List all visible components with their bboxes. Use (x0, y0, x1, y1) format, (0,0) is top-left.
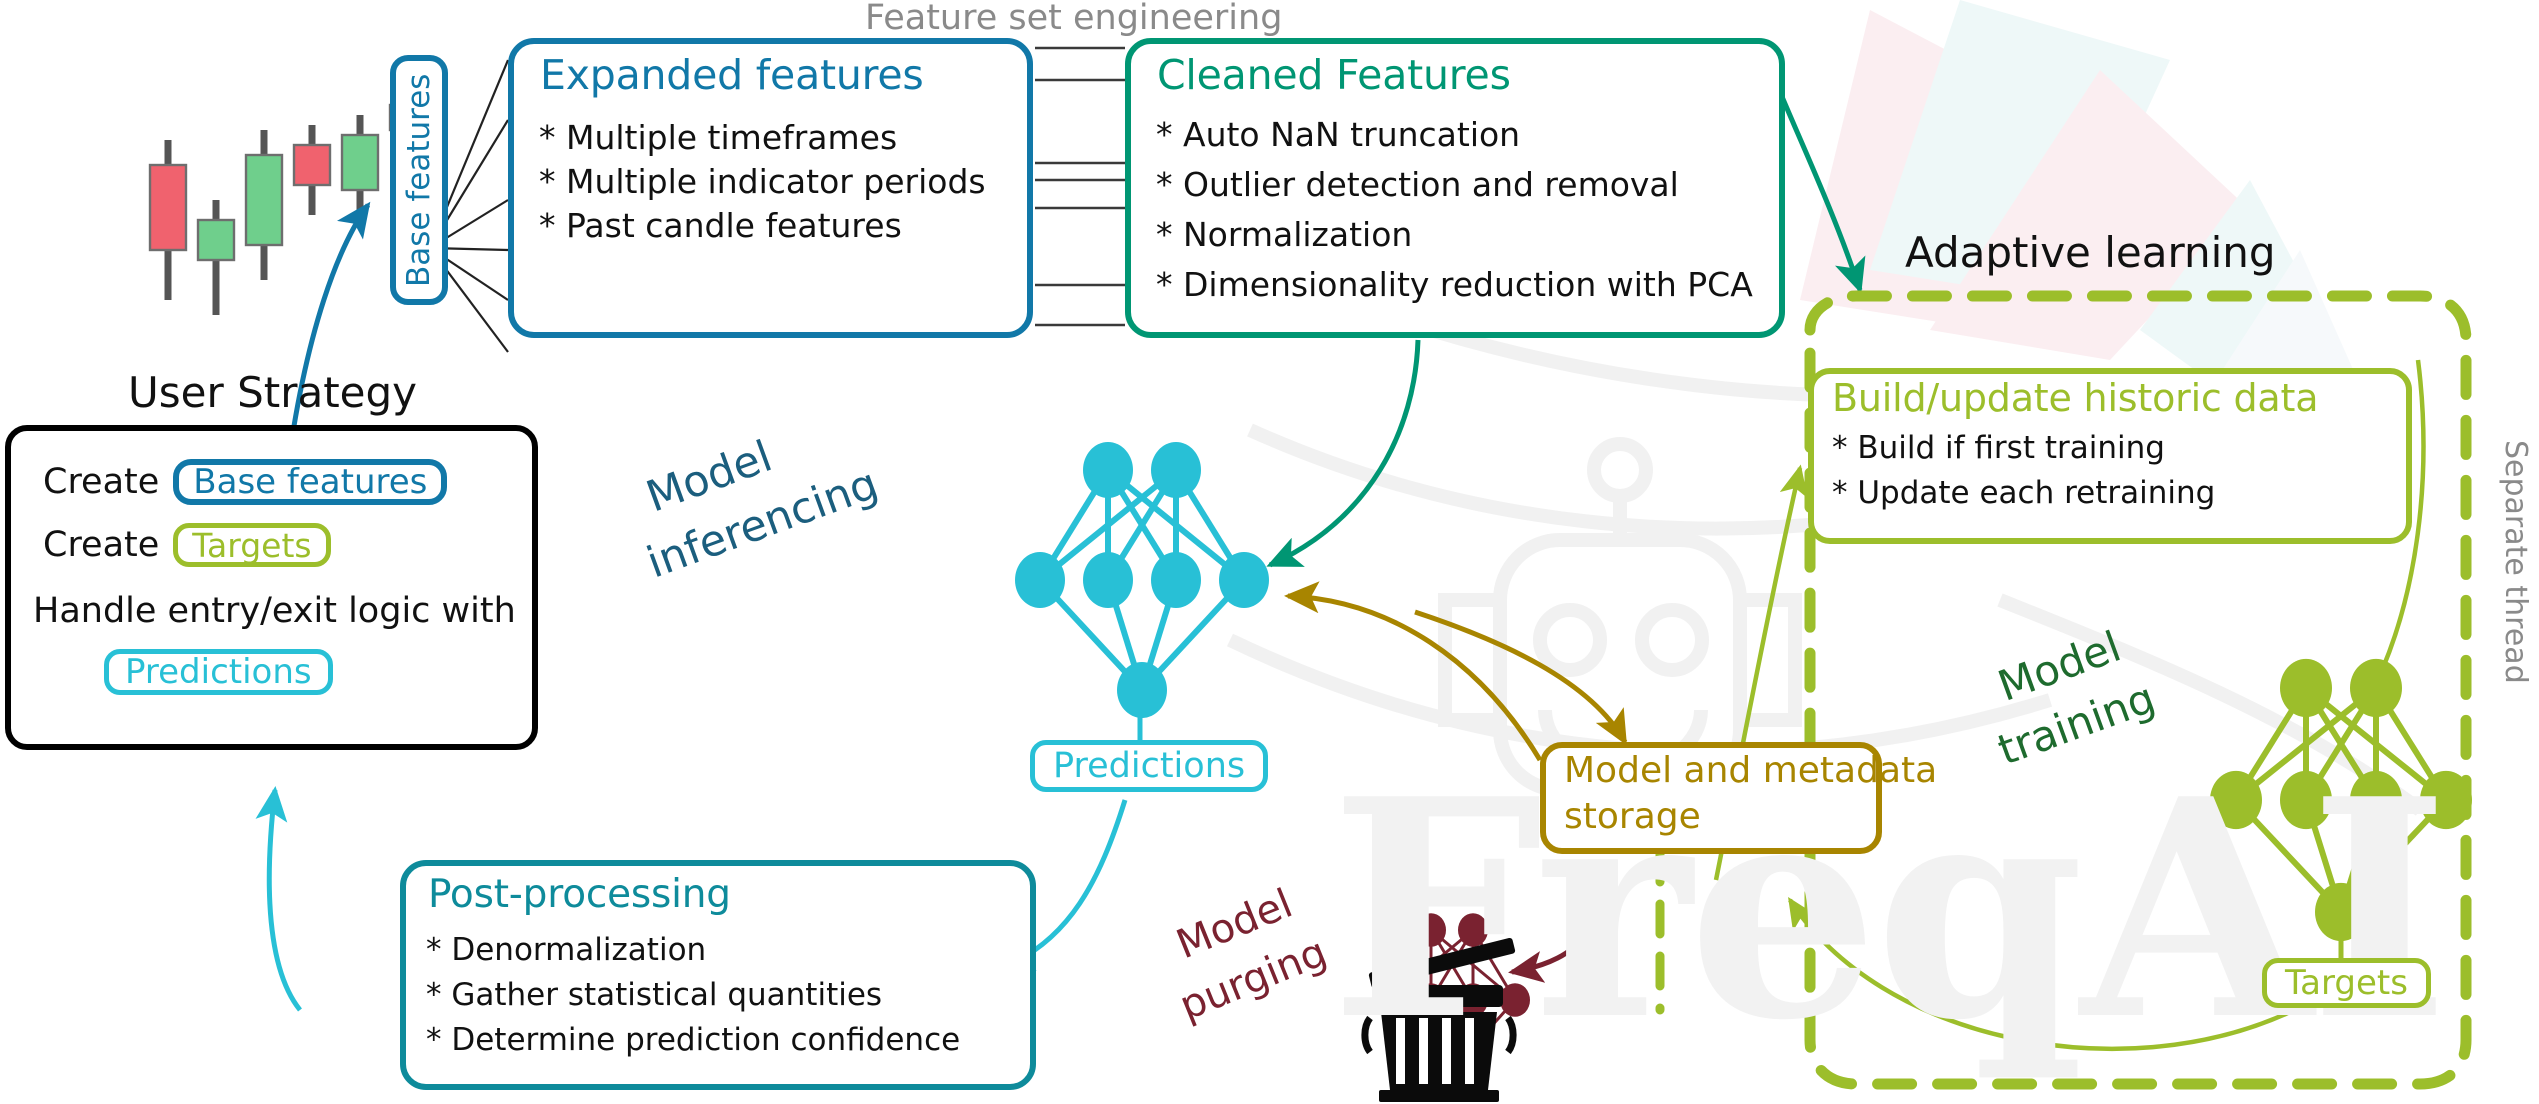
build-update-historic-bullet-0: * Build if first training (1832, 426, 2215, 471)
post-processing-bullet-2: * Determine prediction confidence (426, 1018, 960, 1063)
pill-base-features-inline-label: Base features (193, 462, 427, 502)
post-processing-bullet-0: * Denormalization (426, 928, 960, 973)
cleaned-features-box[interactable]: Cleaned Features * Auto NaN truncation *… (1125, 38, 1785, 338)
user-strategy-box[interactable]: Create Base features Create Targets Hand… (5, 425, 538, 750)
model-storage-line2: storage (1564, 796, 1701, 837)
pill-predictions-inference[interactable]: Predictions (1030, 740, 1268, 792)
expanded-features-bullet-1: * Multiple indicator periods (539, 160, 986, 204)
post-processing-bullets: * Denormalization * Gather statistical q… (426, 928, 960, 1063)
pill-targets-training[interactable]: Targets (2262, 958, 2431, 1008)
expanded-features-title: Expanded features (540, 51, 924, 99)
user-strategy-line-base-features: Create Base features (43, 459, 447, 505)
expanded-features-bullet-2: * Past candle features (539, 204, 986, 248)
model-storage-line1: Model and metadata (1564, 750, 1937, 791)
post-processing-title: Post-processing (428, 872, 731, 917)
expanded-features-bullet-0: * Multiple timeframes (539, 116, 986, 160)
create-base-features-prefix: Create (43, 462, 159, 502)
feature-set-engineering-label: Feature set engineering (865, 0, 1282, 38)
expanded-features-box[interactable]: Expanded features * Multiple timeframes … (508, 38, 1033, 338)
pill-base-features-vertical[interactable]: Base features (390, 55, 448, 305)
diagram-canvas: FreqAI Feature set engineering Base feat… (0, 0, 2539, 1104)
build-update-historic-box[interactable]: Build/update historic data * Build if fi… (1808, 368, 2412, 544)
post-processing-bullet-1: * Gather statistical quantities (426, 973, 960, 1018)
pill-base-features-inline[interactable]: Base features (173, 459, 447, 505)
cleaned-features-bullet-1: * Outlier detection and removal (1156, 160, 1753, 210)
expanded-features-bullets: * Multiple timeframes * Multiple indicat… (539, 116, 986, 248)
adaptive-learning-heading: Adaptive learning (1905, 228, 2276, 277)
build-update-historic-bullets: * Build if first training * Update each … (1832, 426, 2215, 516)
candlestick-chart (150, 95, 426, 315)
arrow-postprocessing-to-strategy (269, 790, 300, 1010)
cleaned-features-bullets: * Auto NaN truncation * Outlier detectio… (1156, 110, 1753, 310)
post-processing-box[interactable]: Post-processing * Denormalization * Gath… (400, 860, 1036, 1090)
pill-predictions-strategy[interactable]: Predictions (104, 649, 333, 695)
freqai-watermark: FreqAI (1330, 760, 2446, 1060)
separate-thread-text: Separate thread (2498, 440, 2533, 684)
build-update-historic-title: Build/update historic data (1832, 376, 2318, 420)
model-storage-box[interactable]: Model and metadata storage (1540, 742, 1882, 854)
user-strategy-heading: User Strategy (128, 368, 417, 417)
cleaned-features-bullet-3: * Dimensionality reduction with PCA (1156, 260, 1753, 310)
pill-targets-training-label: Targets (2285, 963, 2408, 1003)
user-strategy-line-targets: Create Targets (43, 523, 331, 567)
create-targets-prefix: Create (43, 525, 159, 565)
pill-targets-strategy-label: Targets (192, 526, 311, 565)
pill-base-features-vertical-label: Base features (401, 73, 437, 286)
cleaned-features-bullet-0: * Auto NaN truncation (1156, 110, 1753, 160)
connector-expanded-to-cleaned (1035, 48, 1125, 325)
pill-targets-strategy[interactable]: Targets (173, 523, 330, 567)
separate-thread-label: Separate thread (2498, 440, 2533, 684)
pill-predictions-inference-label: Predictions (1053, 746, 1245, 786)
cleaned-features-bullet-2: * Normalization (1156, 210, 1753, 260)
cleaned-features-title: Cleaned Features (1157, 51, 1511, 99)
build-update-historic-bullet-1: * Update each retraining (1832, 471, 2215, 516)
user-strategy-line-entry-exit: Handle entry/exit logic with (33, 591, 516, 631)
pill-predictions-strategy-label: Predictions (125, 652, 312, 692)
inference-neural-network (1015, 442, 1269, 718)
